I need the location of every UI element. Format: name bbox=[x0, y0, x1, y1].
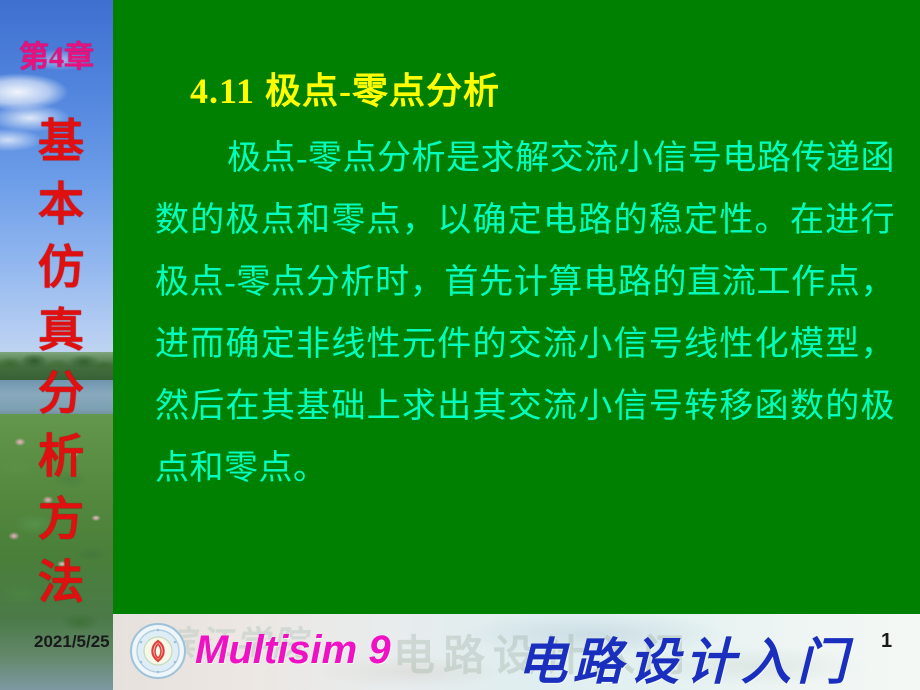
slide-title: 4.11 极点-零点分析 bbox=[190, 62, 500, 114]
footer-brand-multisim: Multisim 9 bbox=[195, 628, 391, 673]
slide-content-area: 4.11 极点-零点分析 极点-零点分析是求解交流小信号电路传递函数的极点和零点… bbox=[113, 0, 920, 614]
slide-footer-bar: 滨江学院 电路设计入门 Multisim 9 电路设计入门 2021/5/25 … bbox=[113, 614, 920, 690]
university-emblem-icon bbox=[129, 622, 187, 680]
footer-page-number: 1 bbox=[881, 630, 892, 653]
presentation-slide: 第4章 基本仿真分析方法 4.11 极点-零点分析 极点-零点分析是求解交流小信… bbox=[0, 0, 920, 690]
sidebar-photo-band: 第4章 基本仿真分析方法 bbox=[0, 0, 113, 690]
footer-course-title: 电路设计入门 bbox=[517, 622, 853, 690]
chapter-title-vertical: 基本仿真分析方法 bbox=[30, 110, 92, 614]
chapter-label: 第4章 bbox=[0, 32, 113, 76]
slide-body-paragraph: 极点-零点分析是求解交流小信号电路传递函数的极点和零点，以确定电路的稳定性。在进… bbox=[155, 128, 895, 500]
footer-date: 2021/5/25 bbox=[34, 632, 110, 652]
